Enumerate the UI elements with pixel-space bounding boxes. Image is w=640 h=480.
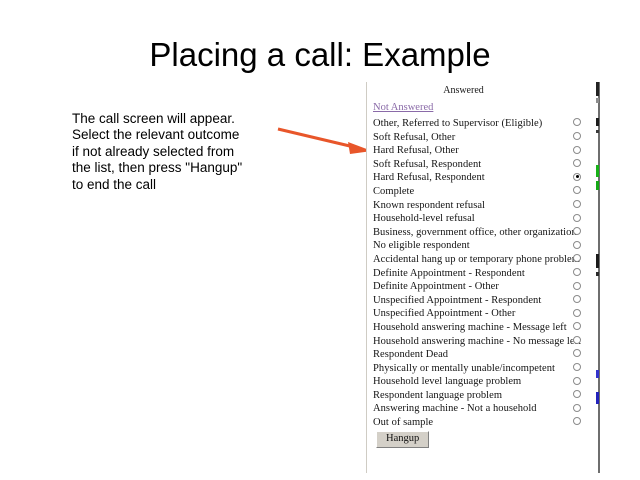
outcome-label: Complete bbox=[373, 186, 414, 197]
outcome-radio[interactable] bbox=[573, 363, 581, 371]
outcome-label: Hard Refusal, Respondent bbox=[373, 172, 485, 183]
outcome-row[interactable]: Out of sample bbox=[367, 414, 598, 428]
outcome-radio[interactable] bbox=[573, 309, 581, 317]
outcome-row[interactable]: Unspecified Appointment - Other bbox=[367, 305, 598, 319]
outcome-row[interactable]: Household-level refusal bbox=[367, 210, 598, 224]
outcome-radio[interactable] bbox=[573, 268, 581, 276]
page-title: Placing a call: Example bbox=[0, 36, 640, 74]
outcome-label: No eligible respondent bbox=[373, 240, 470, 251]
outcome-radio[interactable] bbox=[573, 295, 581, 303]
outcome-label: Household answering machine - Message le… bbox=[373, 322, 567, 333]
outcome-row[interactable]: No eligible respondent bbox=[367, 237, 598, 251]
outcome-row[interactable]: Definite Appointment - Respondent bbox=[367, 265, 598, 279]
outcome-list: Other, Referred to Supervisor (Eligible)… bbox=[367, 115, 598, 428]
outcome-row[interactable]: Other, Referred to Supervisor (Eligible) bbox=[367, 115, 598, 129]
caption-line: to end the call bbox=[72, 177, 284, 193]
outcome-radio[interactable] bbox=[573, 349, 581, 357]
outcome-radio[interactable] bbox=[573, 336, 581, 344]
call-screen-panel: Answered Not Answered Other, Referred to… bbox=[366, 82, 600, 473]
outcome-radio[interactable] bbox=[573, 404, 581, 412]
outcome-label: Hard Refusal, Other bbox=[373, 145, 459, 156]
outcome-label: Other, Referred to Supervisor (Eligible) bbox=[373, 118, 542, 129]
outcome-label: Respondent Dead bbox=[373, 349, 448, 360]
outcome-radio[interactable] bbox=[573, 159, 581, 167]
outcome-label: Respondent language problem bbox=[373, 390, 502, 401]
outcome-label: Physically or mentally unable/incompeten… bbox=[373, 363, 555, 374]
annotation-arrow-icon bbox=[276, 118, 376, 160]
outcome-row[interactable]: Unspecified Appointment - Respondent bbox=[367, 292, 598, 306]
outcome-label: Soft Refusal, Other bbox=[373, 132, 455, 143]
outcome-row[interactable]: Definite Appointment - Other bbox=[367, 278, 598, 292]
outcome-radio[interactable] bbox=[573, 282, 581, 290]
outcome-row[interactable]: Accidental hang up or temporary phone pr… bbox=[367, 251, 598, 265]
outcome-label: Known respondent refusal bbox=[373, 200, 485, 211]
outcome-row[interactable]: Hard Refusal, Respondent bbox=[367, 169, 598, 183]
outcome-row[interactable]: Business, government office, other organ… bbox=[367, 224, 598, 238]
outcome-radio[interactable] bbox=[573, 146, 581, 154]
outcome-row[interactable]: Household answering machine - Message le… bbox=[367, 319, 598, 333]
outcome-label: Answering machine - Not a household bbox=[373, 403, 537, 414]
outcome-radio[interactable] bbox=[573, 377, 581, 385]
outcome-label: Out of sample bbox=[373, 417, 433, 428]
caption-line: if not already selected from bbox=[72, 144, 284, 160]
outcome-row[interactable]: Known respondent refusal bbox=[367, 197, 598, 211]
outcome-radio[interactable] bbox=[573, 390, 581, 398]
caption-line: The call screen will appear. bbox=[72, 111, 284, 127]
outcome-label: Unspecified Appointment - Other bbox=[373, 308, 515, 319]
outcome-label: Household level language problem bbox=[373, 376, 521, 387]
outcome-radio[interactable] bbox=[573, 173, 581, 181]
answered-header: Answered bbox=[367, 82, 598, 97]
outcome-row[interactable]: Household level language problem bbox=[367, 373, 598, 387]
outcome-radio[interactable] bbox=[573, 417, 581, 425]
outcome-row[interactable]: Answering machine - Not a household bbox=[367, 400, 598, 414]
outcome-label: Household answering machine - No message… bbox=[373, 336, 581, 347]
outcome-row[interactable]: Household answering machine - No message… bbox=[367, 333, 598, 347]
outcome-row[interactable]: Soft Refusal, Respondent bbox=[367, 156, 598, 170]
slide-canvas: Placing a call: Example The call screen … bbox=[0, 0, 640, 480]
outcome-label: Definite Appointment - Other bbox=[373, 281, 499, 292]
caption-line: the list, then press "Hangup" bbox=[72, 160, 284, 176]
outcome-row[interactable]: Hard Refusal, Other bbox=[367, 142, 598, 156]
outcome-radio[interactable] bbox=[573, 118, 581, 126]
outcome-radio[interactable] bbox=[573, 227, 581, 235]
outcome-row[interactable]: Complete bbox=[367, 183, 598, 197]
outcome-label: Soft Refusal, Respondent bbox=[373, 159, 481, 170]
outcome-row[interactable]: Respondent Dead bbox=[367, 346, 598, 360]
caption-line: Select the relevant outcome bbox=[72, 127, 284, 143]
outcome-label: Business, government office, other organ… bbox=[373, 227, 577, 238]
outcome-label: Unspecified Appointment - Respondent bbox=[373, 295, 541, 306]
outcome-radio[interactable] bbox=[573, 200, 581, 208]
outcome-row[interactable]: Respondent language problem bbox=[367, 387, 598, 401]
outcome-label: Definite Appointment - Respondent bbox=[373, 268, 525, 279]
outcome-radio[interactable] bbox=[573, 132, 581, 140]
outcome-radio[interactable] bbox=[573, 214, 581, 222]
outcome-label: Household-level refusal bbox=[373, 213, 475, 224]
caption-text: The call screen will appear. Select the … bbox=[72, 111, 284, 193]
hangup-button[interactable]: Hangup bbox=[376, 431, 429, 448]
outcome-radio[interactable] bbox=[573, 322, 581, 330]
outcome-label: Accidental hang up or temporary phone pr… bbox=[373, 254, 580, 265]
outcome-row[interactable]: Physically or mentally unable/incompeten… bbox=[367, 360, 598, 374]
outcome-radio[interactable] bbox=[573, 186, 581, 194]
not-answered-link[interactable]: Not Answered bbox=[373, 101, 433, 114]
outcome-radio[interactable] bbox=[573, 241, 581, 249]
outcome-row[interactable]: Soft Refusal, Other bbox=[367, 129, 598, 143]
